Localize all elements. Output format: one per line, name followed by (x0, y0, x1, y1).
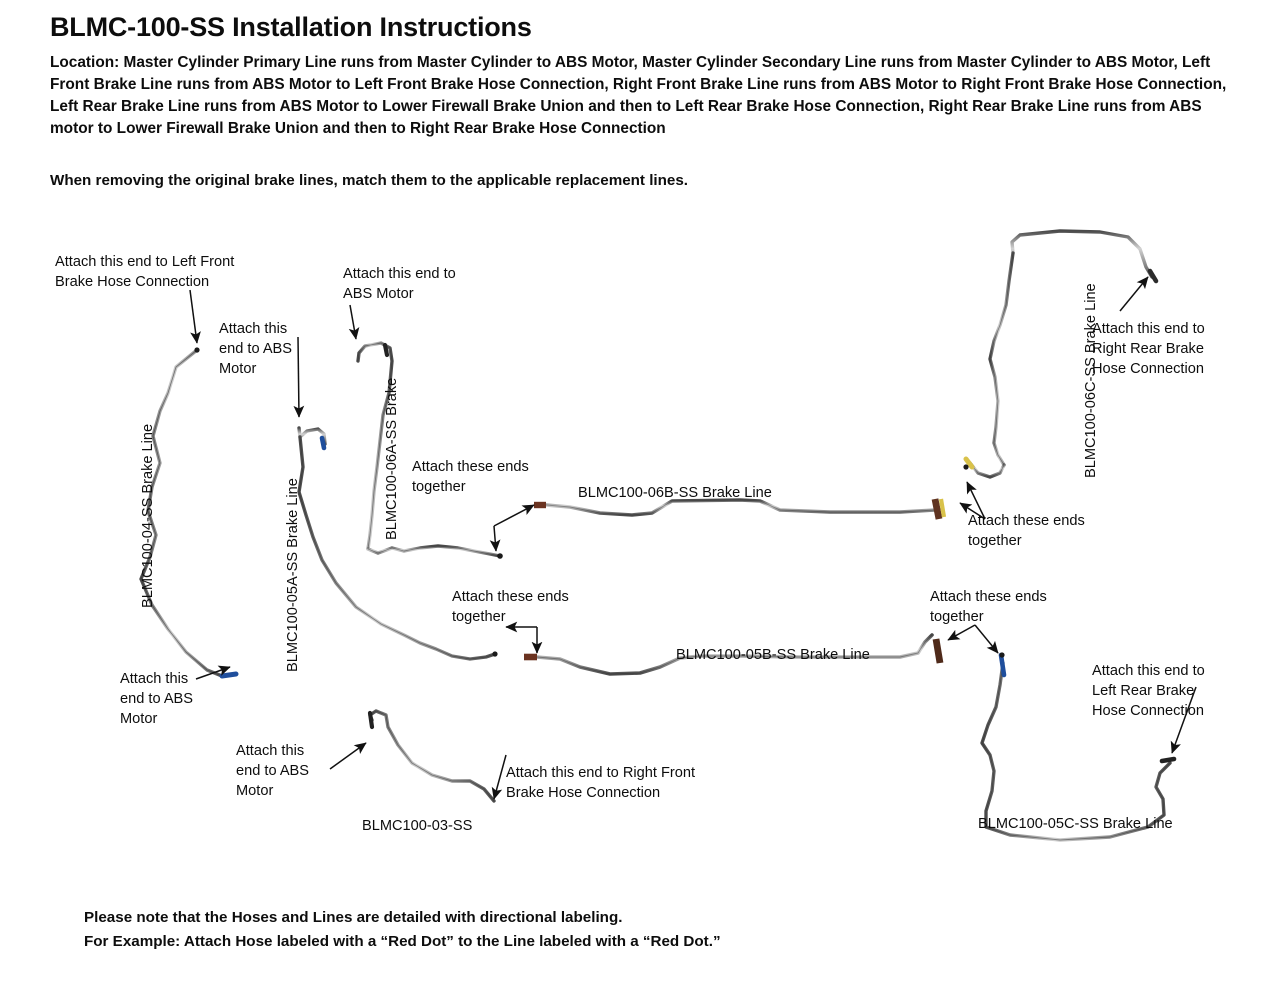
annotation-abs-motor-04-lower: Attach this end to ABS Motor (120, 670, 240, 730)
footer-note: Please note that the Hoses and Lines are… (84, 906, 1034, 953)
location-paragraph: Location: Master Cylinder Primary Line r… (50, 52, 1240, 140)
part-label-06a: BLMC100-06A-SS Brake (384, 378, 400, 540)
annotation-ends-together-05: Attach these ends together (452, 588, 622, 628)
annotation-right-rear-hose: Attach this end to Right Rear Brake Hose… (1092, 320, 1252, 380)
annotation-ends-together-06: Attach these ends together (412, 458, 572, 498)
brake-line-06a-graphic (358, 343, 503, 559)
connector-end-05c-top (999, 652, 1004, 657)
part-label-05c: BLMC100-05C-SS Brake Line (978, 816, 1173, 832)
connector-03-top (370, 713, 372, 727)
connector-06a-top (385, 345, 387, 355)
annotation-abs-motor-04: Attach this end to ABS Motor (219, 320, 329, 380)
part-label-05a: BLMC100-05A-SS Brake Line (285, 478, 301, 672)
annotation-left-front-hose: Attach this end to Left Front Brake Hose… (55, 253, 285, 293)
connector-red-05b-right (936, 639, 940, 663)
installation-instruction-page: BLMC-100-SS Installation Instructions Lo… (0, 0, 1280, 989)
annotation-ends-together-06c: Attach these ends together (968, 512, 1138, 552)
connector-yellow-06b-right (941, 499, 944, 517)
connector-red-06b-right (935, 499, 939, 519)
connector-05c-right-end (1162, 759, 1174, 761)
arrow-right-rear-hose (1120, 277, 1148, 311)
annotation-abs-motor-03: Attach this end to ABS Motor (236, 742, 356, 802)
connector-06c-top-right (1150, 271, 1156, 281)
arrow-abs-motor-05a (350, 305, 356, 339)
footer-line-2: For Example: Attach Hose labeled with a … (84, 930, 1034, 954)
part-label-06b: BLMC100-06B-SS Brake Line (578, 485, 772, 501)
part-label-03: BLMC100-03-SS (362, 818, 472, 834)
annotation-ends-together-05c: Attach these ends together (930, 588, 1100, 628)
connector-end-04-upper (194, 347, 199, 352)
annotation-abs-motor-05a: Attach this end to ABS Motor (343, 265, 503, 305)
arrow-right-front-hose (494, 755, 506, 799)
match-lines-note: When removing the original brake lines, … (50, 172, 950, 189)
footer-line-1: Please note that the Hoses and Lines are… (84, 906, 1034, 930)
arrow-left-front-hose (190, 290, 197, 343)
annotation-right-front-hose: Attach this end to Right Front Brake Hos… (506, 764, 756, 804)
part-label-06c: BLMC100-06C-SS Brake Line (1083, 283, 1099, 478)
arrow-ends-05c-right (975, 625, 998, 653)
brake-line-03-graphic (370, 711, 494, 801)
part-label-05b: BLMC100-05B-SS Brake Line (676, 647, 870, 663)
connector-blue-05a (322, 438, 324, 448)
arrow-ends-06-right (494, 505, 534, 526)
connector-end-06c (963, 464, 968, 469)
connector-end-05a (492, 651, 497, 656)
part-label-04: BLMC100-04-SS Brake Line (140, 424, 156, 608)
page-title: BLMC-100-SS Installation Instructions (50, 12, 532, 43)
arrow-ends-06-left (494, 526, 496, 551)
connector-blue-05c (1001, 655, 1004, 675)
annotation-left-rear-hose: Attach this end to Left Rear Brake Hose … (1092, 662, 1252, 722)
brake-line-06b-graphic (534, 499, 944, 519)
connector-end-06a (497, 553, 503, 559)
